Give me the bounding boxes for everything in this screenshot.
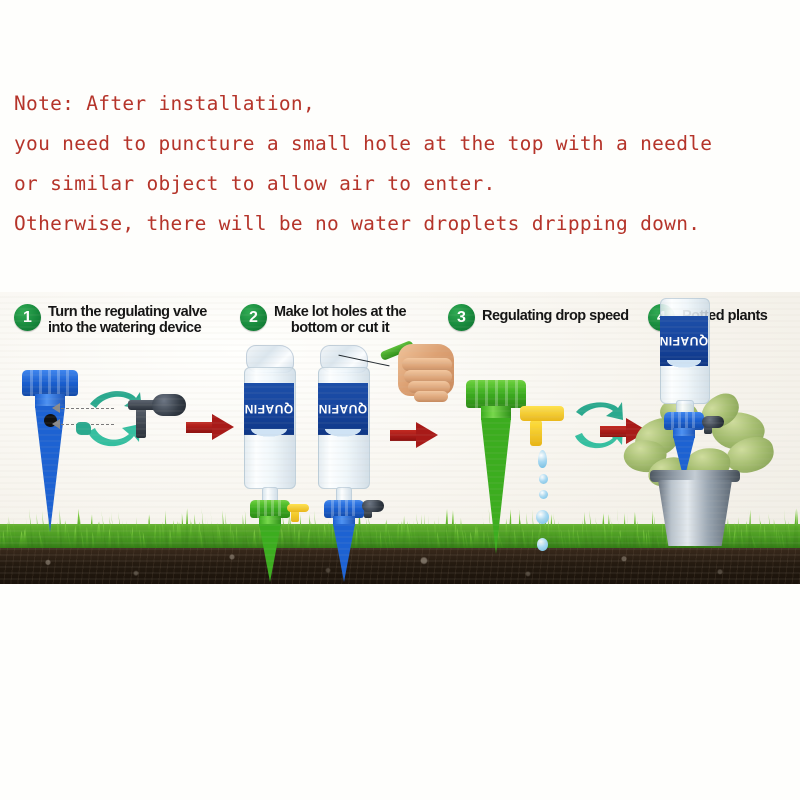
step-2-label: Make lot holes at the bottom or cut it xyxy=(274,304,406,336)
step-1-header: 1 Turn the regulating valve into the wat… xyxy=(14,304,207,336)
guide-arrow-top xyxy=(52,403,60,413)
bottle-step2-a: AQUAFINA xyxy=(244,367,294,487)
finger xyxy=(414,391,448,402)
bottle-label: AQUAFINA xyxy=(660,316,708,366)
water-droplet xyxy=(536,510,549,524)
note-text-block: Note: After installation, you need to pu… xyxy=(14,84,774,244)
flow-arrow-1 xyxy=(186,414,234,440)
spike-cone xyxy=(481,418,511,554)
bottle-label: AQUAFINA xyxy=(244,383,294,435)
note-line-4: Otherwise, there will be no water drople… xyxy=(14,204,774,244)
spike-cap xyxy=(466,380,526,408)
step-1-number: 1 xyxy=(14,304,41,331)
water-droplet xyxy=(539,474,548,484)
note-line-1: Note: After installation, xyxy=(14,84,774,124)
instruction-illustration-panel: 1 Turn the regulating valve into the wat… xyxy=(0,292,800,584)
water-droplet xyxy=(537,538,548,551)
step-3-number: 3 xyxy=(448,304,475,331)
water-droplet xyxy=(538,450,547,468)
spike-cap xyxy=(22,370,78,396)
flow-arrow-2 xyxy=(390,422,438,448)
step-2-number: 2 xyxy=(240,304,267,331)
step-1-label: Turn the regulating valve into the water… xyxy=(48,304,207,336)
bottle-step2-b: AQUAFINA xyxy=(318,367,368,487)
water-droplet xyxy=(539,490,548,499)
guide-arrow-bottom xyxy=(52,419,60,429)
soil-band xyxy=(0,548,800,584)
step-3-header: 3 Regulating drop speed xyxy=(448,304,629,331)
note-line-3: or similar object to allow air to enter. xyxy=(14,164,774,204)
step-2-header: 2 Make lot holes at the bottom or cut it xyxy=(240,304,406,336)
flower-pot xyxy=(658,480,732,546)
step-3-label: Regulating drop speed xyxy=(482,304,629,325)
spike-cone xyxy=(333,524,355,582)
note-line-2: you need to puncture a small hole at the… xyxy=(14,124,774,164)
rotate-arrow-fragment xyxy=(76,422,91,435)
spike-cone xyxy=(259,524,281,582)
bottle-step4: AQUAFINA xyxy=(660,298,708,402)
bottle-label: AQUAFINA xyxy=(318,383,368,435)
